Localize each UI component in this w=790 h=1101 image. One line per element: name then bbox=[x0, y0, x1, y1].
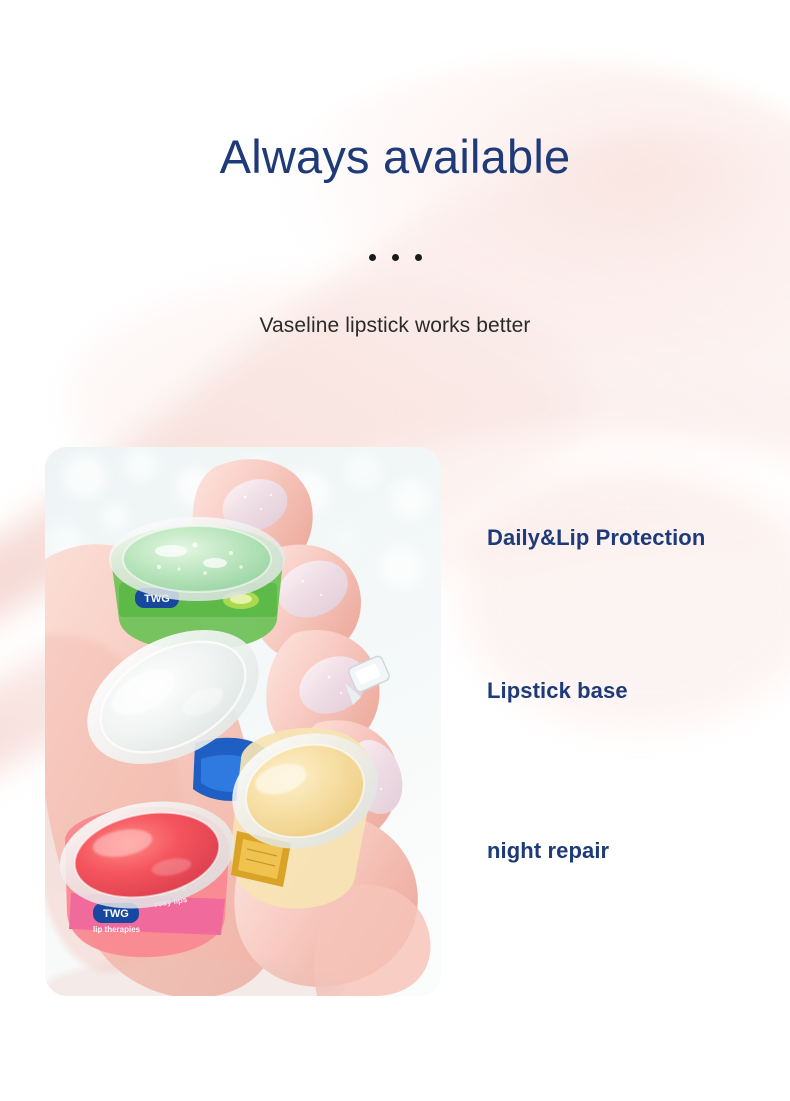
separator-dot bbox=[392, 254, 399, 261]
svg-text:TWG: TWG bbox=[103, 908, 129, 920]
feature-label-night-repair: night repair bbox=[487, 838, 609, 864]
separator-dot bbox=[415, 254, 422, 261]
product-photo-illustration: TWG bbox=[45, 447, 441, 996]
feature-label-daily-lip-protection: Daily&Lip Protection bbox=[487, 525, 705, 551]
dots-separator bbox=[0, 254, 790, 261]
separator-dot bbox=[369, 254, 376, 261]
product-photo: TWG bbox=[45, 447, 441, 996]
page-title: Always available bbox=[0, 131, 790, 184]
jar-label-line-1: lip therapies bbox=[93, 925, 141, 934]
page-subtitle: Vaseline lipstick works better bbox=[0, 314, 790, 338]
feature-label-lipstick-base: Lipstick base bbox=[487, 678, 628, 704]
